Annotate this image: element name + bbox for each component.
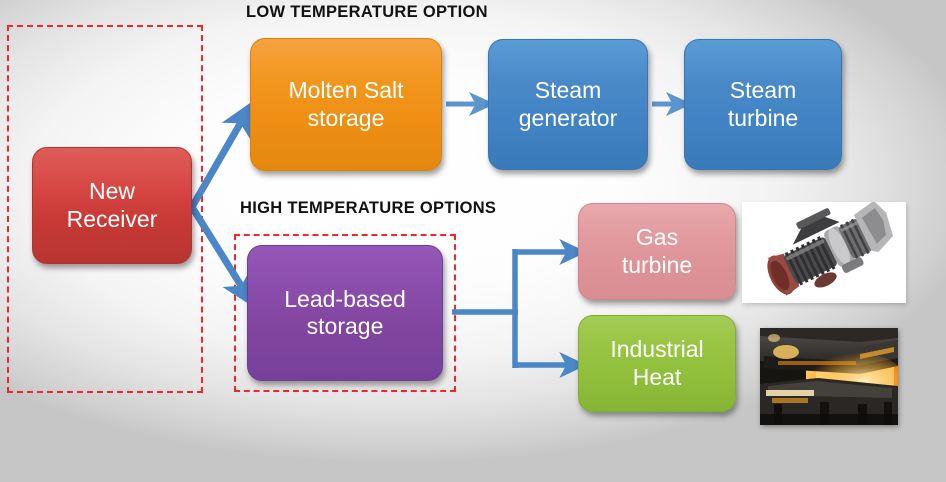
node-molten-salt-line2: storage xyxy=(308,105,385,131)
node-gas-turbine-line2: turbine xyxy=(622,252,692,278)
node-steam-generator-line2: generator xyxy=(519,105,617,131)
node-steam-generator[interactable]: Steam generator xyxy=(488,39,648,170)
node-lead-storage-line2: storage xyxy=(307,313,384,339)
node-molten-salt-line1: Molten Salt xyxy=(288,77,403,103)
node-gas-turbine[interactable]: Gas turbine xyxy=(578,203,736,300)
node-steam-turbine-line2: turbine xyxy=(728,105,798,131)
node-lead-based-storage-label: Lead-based storage xyxy=(256,286,434,340)
node-steam-turbine-line1: Steam xyxy=(730,77,796,103)
node-new-receiver-line1: New xyxy=(89,178,135,204)
gas-turbine-cutaway-photo xyxy=(742,202,906,303)
node-lead-storage-line1: Lead-based xyxy=(284,286,406,312)
node-steam-turbine-label: Steam turbine xyxy=(693,77,833,131)
node-steam-generator-label: Steam generator xyxy=(497,77,639,131)
node-industrial-heat[interactable]: Industrial Heat xyxy=(578,315,736,412)
low-temperature-option-heading: LOW TEMPERATURE OPTION xyxy=(246,4,488,21)
high-temperature-options-heading: HIGH TEMPERATURE OPTIONS xyxy=(240,200,496,217)
node-gas-turbine-label: Gas turbine xyxy=(587,224,727,278)
industrial-furnace-photo xyxy=(760,328,898,425)
node-steam-turbine[interactable]: Steam turbine xyxy=(684,39,842,170)
node-lead-based-storage[interactable]: Lead-based storage xyxy=(247,245,443,381)
node-industrial-heat-label: Industrial Heat xyxy=(587,336,727,390)
node-molten-salt-storage-label: Molten Salt storage xyxy=(259,77,433,131)
node-new-receiver[interactable]: New Receiver xyxy=(32,147,192,264)
node-industrial-heat-line1: Industrial xyxy=(610,336,703,362)
node-industrial-heat-line2: Heat xyxy=(633,364,682,390)
diagram-canvas: LOW TEMPERATURE OPTION HIGH TEMPERATURE … xyxy=(0,0,946,482)
node-new-receiver-label: New Receiver xyxy=(41,178,183,232)
node-new-receiver-line2: Receiver xyxy=(67,206,158,232)
node-gas-turbine-line1: Gas xyxy=(636,224,678,250)
node-molten-salt-storage[interactable]: Molten Salt storage xyxy=(250,38,442,171)
node-steam-generator-line1: Steam xyxy=(535,77,601,103)
